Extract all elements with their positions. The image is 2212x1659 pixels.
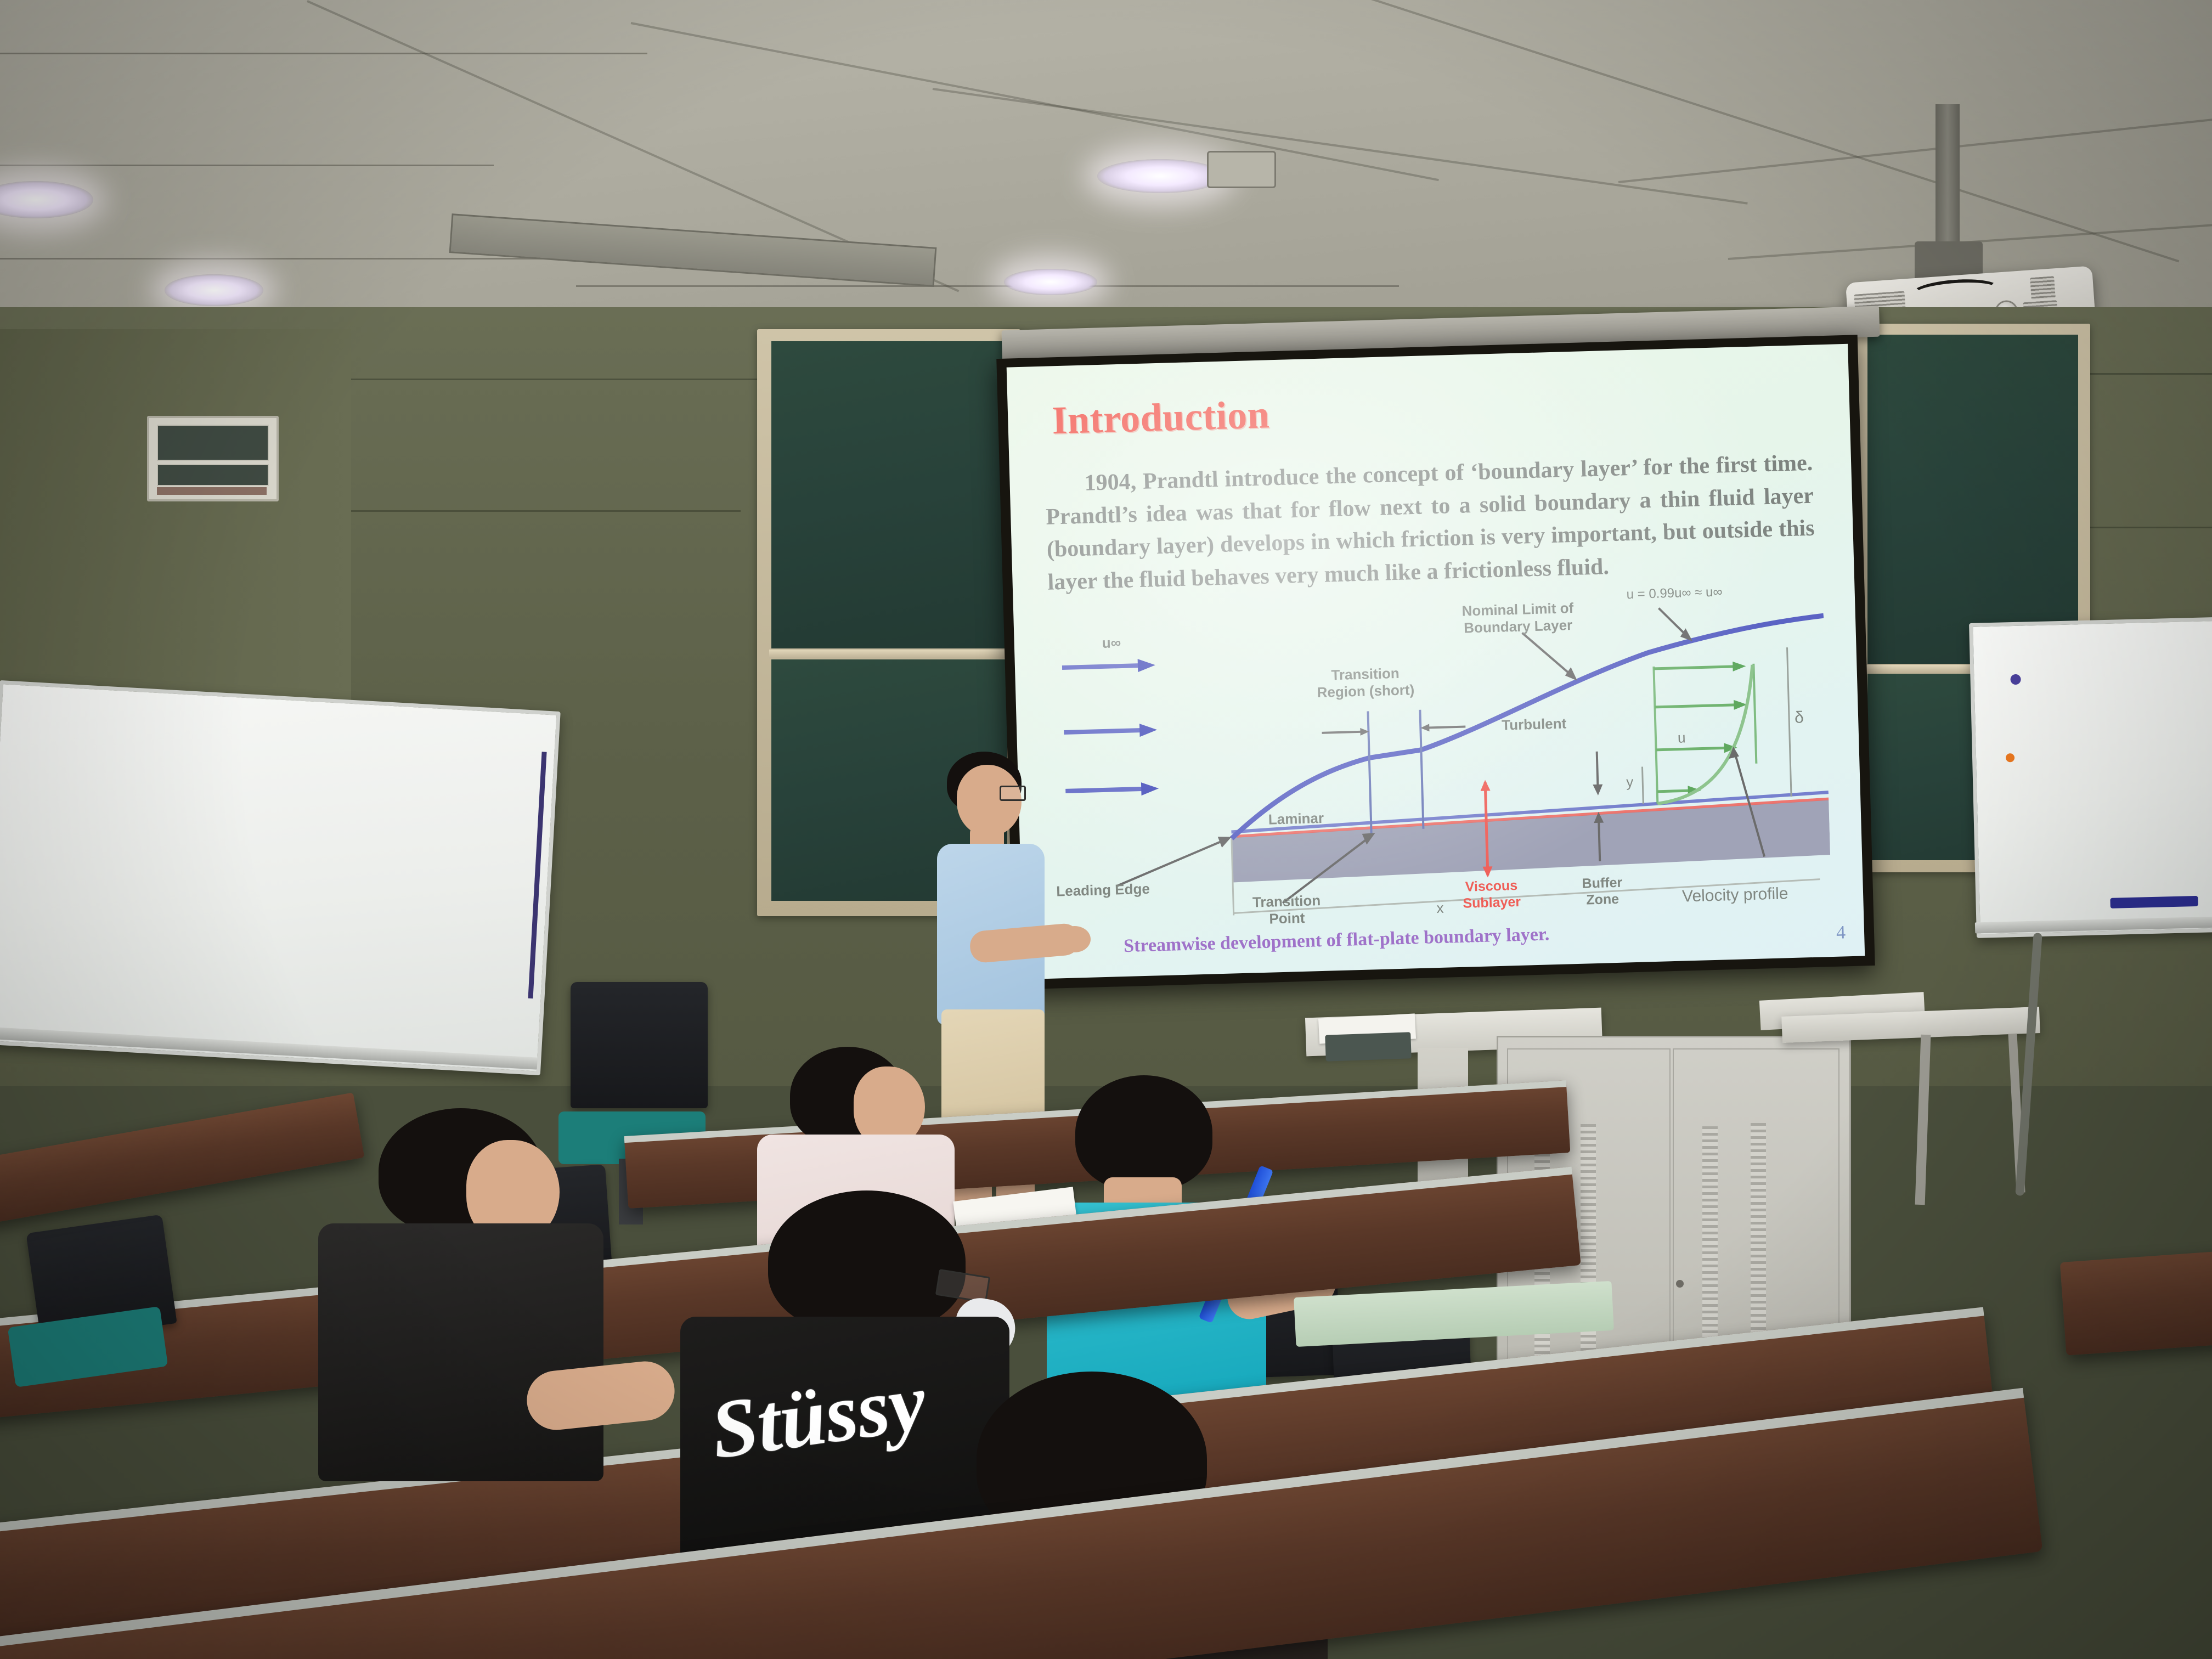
whiteboard-magnet[interactable] <box>2006 753 2015 762</box>
diagram-label-y: y <box>1626 774 1634 791</box>
lecturer-hand <box>1059 926 1091 952</box>
student-black-tee-left <box>307 1108 691 1481</box>
diagram-label-turbulent: Turbulent <box>1502 715 1567 733</box>
whiteboard-left[interactable] <box>0 680 561 1075</box>
slide-caption: Streamwise development of flat-plate bou… <box>1124 924 1550 957</box>
diagram-label-x-axis: x <box>1436 900 1444 917</box>
whiteboard-marker[interactable] <box>2110 896 2198 909</box>
diagram-label-nominal-limit: Nominal Limit of Boundary Layer <box>1454 600 1582 637</box>
boundary-layer-diagram: u∞ Leading Edge Laminar Transition Point… <box>1044 580 1832 931</box>
diagram-label-delta: δ <box>1795 708 1804 727</box>
boundary-layer-svg <box>1044 580 1832 931</box>
tee-print-graphic: Stüssy <box>707 1368 929 1464</box>
diagram-label-laminar: Laminar <box>1268 810 1324 828</box>
slide-body-text: 1904, Prandtl introduce the concept of ‘… <box>1045 447 1816 599</box>
ceiling-light <box>165 274 263 306</box>
ceiling-speaker <box>1207 151 1276 188</box>
lecture-hall-photo: Introduction 1904, Prandtl introduce the… <box>0 0 2212 1659</box>
student-hair <box>768 1190 966 1333</box>
diagram-label-velocity-profile: Velocity profile <box>1682 884 1788 906</box>
wall-control-panel <box>147 416 279 501</box>
slide-title: Introduction <box>1051 392 1270 443</box>
diagram-label-transition-region: Transition Region (short) <box>1310 664 1421 701</box>
diagram-label-transition-point: Transition Point <box>1245 892 1329 928</box>
projector-mount-pole <box>1936 104 1960 247</box>
cabinet-lock[interactable] <box>1676 1280 1684 1288</box>
diagram-label-buffer-zone: Buffer Zone <box>1566 874 1639 909</box>
ceiling-light <box>0 181 93 218</box>
ceiling-light <box>1004 269 1097 295</box>
slide-number: 4 <box>1836 922 1846 943</box>
ceiling-air-duct <box>449 213 937 287</box>
projection-screen: Introduction 1904, Prandtl introduce the… <box>996 335 1875 989</box>
office-chair-back[interactable] <box>571 982 708 1108</box>
whiteboard-right[interactable] <box>1969 617 2212 938</box>
diagram-label-freestream: u∞ <box>1102 634 1121 652</box>
lecturer-glasses <box>1000 786 1026 801</box>
diagram-label-u: u <box>1678 729 1686 746</box>
student-hair <box>1075 1075 1212 1190</box>
whiteboard-magnet[interactable] <box>2010 674 2021 685</box>
ceiling-light <box>1097 159 1223 193</box>
diagram-label-viscous-sublayer: Viscous Sublayer <box>1450 877 1533 912</box>
diagram-label-u99: u = 0.99u∞ ≈ u∞ <box>1626 584 1723 602</box>
projected-slide: Introduction 1904, Prandtl introduce the… <box>1007 344 1865 979</box>
lecture-desk-right <box>2060 1239 2212 1355</box>
whiteboard-stripe <box>528 752 546 998</box>
podium-control-panel[interactable] <box>1325 1032 1412 1061</box>
student-shirt <box>318 1223 603 1481</box>
